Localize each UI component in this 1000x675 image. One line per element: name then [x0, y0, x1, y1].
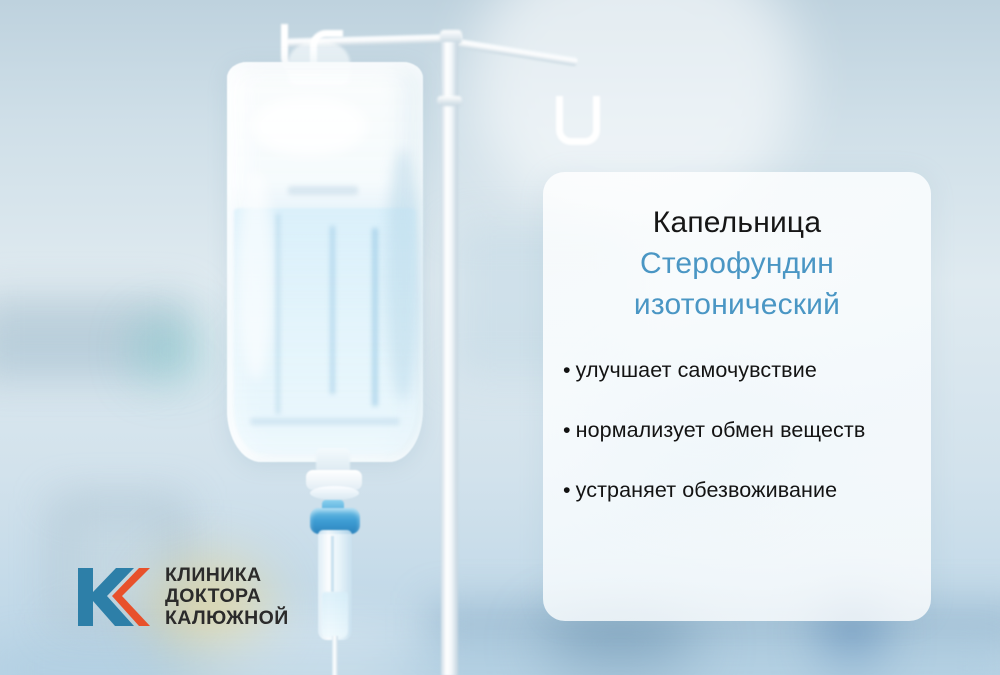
- background-floor-band: [0, 648, 1000, 675]
- logo-line-3: КАЛЮЖНОЙ: [165, 608, 289, 630]
- iv-tube: [332, 636, 338, 675]
- logo-line-2: ДОКТОРА: [165, 586, 289, 608]
- card-title-line-3: изотонический: [559, 284, 915, 325]
- list-item: •устраняет обезвоживание: [563, 475, 909, 505]
- list-item-label: устраняет обезвоживание: [576, 478, 838, 502]
- benefits-list: •улучшает самочувствие •нормализует обме…: [559, 355, 915, 505]
- iv-pole-shaft: [441, 42, 458, 675]
- logo-letter-k-blue: [78, 568, 134, 626]
- card-title-line-1: Капельница: [559, 202, 915, 243]
- iv-spike-ring: [310, 486, 359, 500]
- list-item-label: нормализует обмен веществ: [576, 418, 866, 442]
- promo-banner: Капельница Стерофундин изотонический •ул…: [0, 0, 1000, 675]
- drip-chamber-fluid: [322, 592, 348, 638]
- logo-line-1: КЛИНИКА: [165, 565, 289, 587]
- logo-wordmark: КЛИНИКА ДОКТОРА КАЛЮЖНОЙ: [165, 565, 289, 630]
- iv-hook-right: [556, 96, 600, 145]
- bullet-icon: •: [563, 478, 571, 502]
- card-title-line-2: Стерофундин: [559, 243, 915, 284]
- iv-bag-fluid: [234, 208, 416, 454]
- bullet-icon: •: [563, 358, 571, 382]
- list-item: •нормализует обмен веществ: [563, 415, 909, 445]
- iv-pole-collar: [437, 96, 462, 106]
- clinic-logo: КЛИНИКА ДОКТОРА КАЛЮЖНОЙ: [76, 556, 311, 638]
- list-item: •улучшает самочувствие: [563, 355, 909, 385]
- info-card: Капельница Стерофундин изотонический •ул…: [543, 172, 931, 621]
- drip-chamber-spike: [331, 536, 334, 592]
- background-wall-panel-left-lower: [0, 330, 160, 378]
- logo-mark-icon: [76, 566, 152, 628]
- bullet-icon: •: [563, 418, 571, 442]
- background-teal-accent: [146, 330, 190, 370]
- list-item-label: улучшает самочувствие: [576, 358, 817, 382]
